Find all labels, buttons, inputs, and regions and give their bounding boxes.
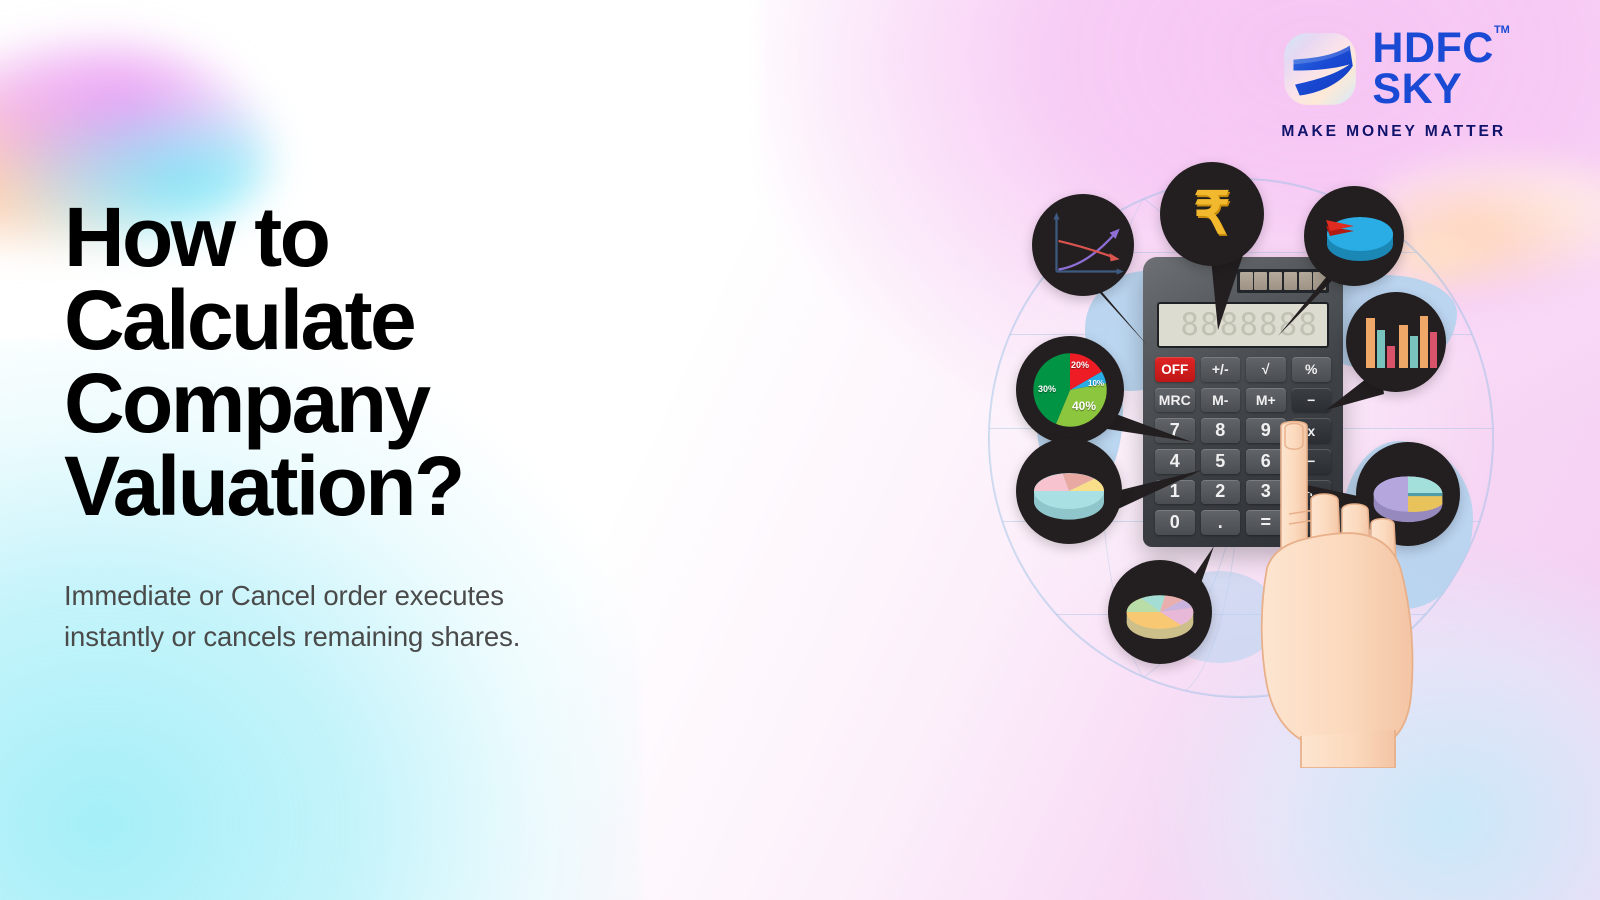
- calculator-key-8[interactable]: 8: [1201, 418, 1241, 443]
- hero-illustration: 8888888 OFF +/- √ % MRC M- M+ − 7 8 9 x …: [960, 150, 1540, 770]
- pie-label-10: 10%: [1088, 379, 1104, 388]
- pie-label-20: 20%: [1071, 360, 1089, 370]
- calculator-key-sqrt[interactable]: √: [1246, 357, 1286, 382]
- trademark-icon: TM: [1494, 24, 1510, 36]
- page-title: How to Calculate Company Valuation?: [64, 196, 704, 529]
- page-subtitle: Immediate or Cancel order executes insta…: [64, 575, 704, 658]
- pastel-pie-left-bubble: [1016, 438, 1122, 544]
- poster-canvas: HDFC SKY TM MAKE MONEY MATTER How to Cal…: [0, 0, 1600, 900]
- calculator-key-5[interactable]: 5: [1201, 449, 1241, 474]
- line-chart-bubble: [1032, 194, 1134, 296]
- rupee-bubble: ₹: [1160, 162, 1264, 266]
- calculator-key-signtoggle[interactable]: +/-: [1201, 357, 1241, 382]
- calculator-key-percent[interactable]: %: [1292, 357, 1332, 382]
- exploded-pie-bubble: [1304, 186, 1404, 286]
- rupee-symbol-icon: ₹: [1194, 185, 1231, 243]
- calculator-key-mminus[interactable]: M-: [1201, 388, 1241, 413]
- solar-panel-icon: [1237, 269, 1329, 293]
- pastel-pie-bottom-bubble: [1108, 560, 1212, 664]
- pointing-hand-icon: [1245, 418, 1450, 768]
- calculator-key-mplus[interactable]: M+: [1246, 388, 1286, 413]
- bar-chart-bubble: [1346, 292, 1446, 392]
- calculator-key-minus-top[interactable]: −: [1292, 388, 1332, 413]
- calculator-key-7[interactable]: 7: [1155, 418, 1195, 443]
- logo-text-hdfc: HDFC: [1372, 28, 1493, 69]
- copy-block: How to Calculate Company Valuation? Imme…: [64, 196, 704, 657]
- hdfc-sky-swoosh-logo-icon: [1281, 30, 1359, 108]
- calculator-key-mrc[interactable]: MRC: [1155, 388, 1195, 413]
- pie-label-30: 30%: [1038, 384, 1056, 394]
- brand-tagline: MAKE MONEY MATTER: [1281, 123, 1506, 141]
- calculator-display: 8888888: [1157, 302, 1329, 348]
- calculator-key-0[interactable]: 0: [1155, 510, 1195, 535]
- calculator-key-off[interactable]: OFF: [1155, 357, 1195, 382]
- pie-label-40: 40%: [1072, 399, 1096, 413]
- calculator-key-4[interactable]: 4: [1155, 449, 1195, 474]
- brand-logo: HDFC SKY TM MAKE MONEY MATTER: [1281, 28, 1506, 141]
- calculator-key-decimal[interactable]: .: [1201, 510, 1241, 535]
- calculator-key-1[interactable]: 1: [1155, 480, 1195, 505]
- percent-pie-bubble: 20% 10% 40% 30%: [1016, 336, 1124, 444]
- calculator-key-2[interactable]: 2: [1201, 480, 1241, 505]
- logo-text-sky: SKY: [1372, 69, 1493, 110]
